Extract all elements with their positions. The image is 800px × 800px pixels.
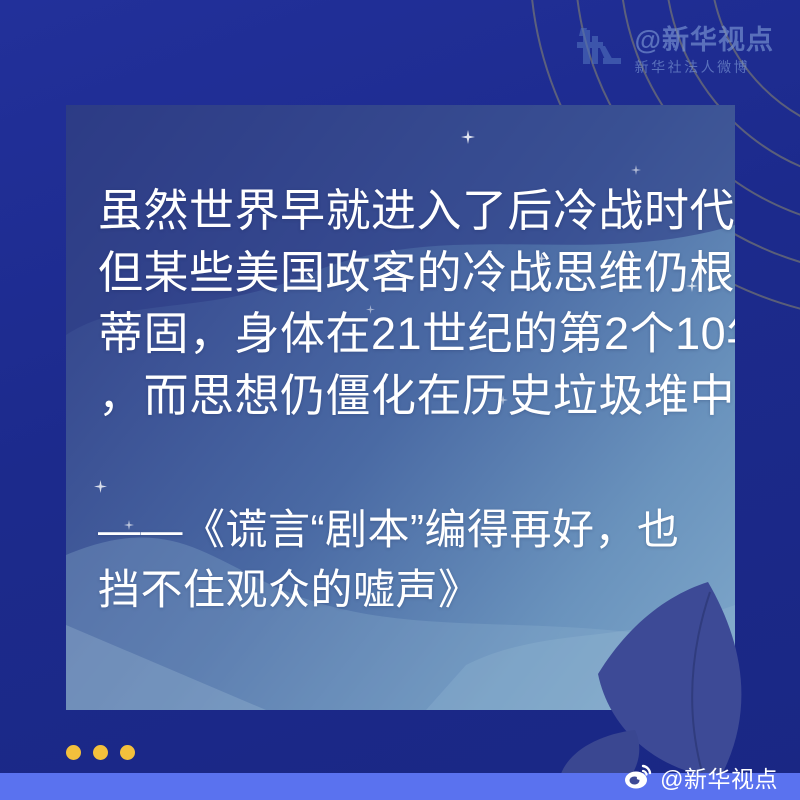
poster-canvas: @新华视点 新华社法人微博 bbox=[0, 0, 800, 800]
weibo-credit-name: @新华视点 bbox=[660, 760, 778, 794]
weibo-credit: @新华视点 bbox=[624, 760, 778, 794]
weibo-eye-icon bbox=[624, 763, 652, 791]
quote-text: 虽然世界早就进入了后冷战时代， 但某些美国政客的冷战思维仍根深 蒂固，身体在21… bbox=[98, 180, 717, 427]
watermark-title: @新华视点 bbox=[635, 27, 774, 54]
sparkle-icon bbox=[94, 480, 107, 493]
attribution-line: 挡不住观众的嘘声》 bbox=[98, 560, 717, 620]
xinhua-logo-mark-icon bbox=[573, 26, 625, 74]
quote-line: 虽然世界早就进入了后冷战时代， bbox=[98, 180, 717, 242]
quote-line: ，而思想仍僵化在历史垃圾堆中。 bbox=[98, 365, 717, 427]
quote-line: 但某些美国政客的冷战思维仍根深 bbox=[98, 242, 717, 304]
watermark-header: @新华视点 新华社法人微博 bbox=[573, 26, 774, 74]
watermark-subtitle: 新华社法人微博 bbox=[635, 60, 774, 74]
sparkle-icon bbox=[631, 165, 641, 175]
quote-line: 蒂固，身体在21世纪的第2个10年 bbox=[98, 303, 717, 365]
gold-dots-group bbox=[66, 745, 135, 760]
gold-dot bbox=[120, 745, 135, 760]
quote-attribution: ——《谎言“剧本”编得再好，也 挡不住观众的嘘声》 bbox=[98, 500, 717, 619]
gold-dot bbox=[66, 745, 81, 760]
attribution-line: ——《谎言“剧本”编得再好，也 bbox=[98, 500, 717, 560]
sparkle-icon bbox=[461, 130, 475, 144]
quote-card: 虽然世界早就进入了后冷战时代， 但某些美国政客的冷战思维仍根深 蒂固，身体在21… bbox=[66, 105, 735, 710]
gold-dot bbox=[93, 745, 108, 760]
